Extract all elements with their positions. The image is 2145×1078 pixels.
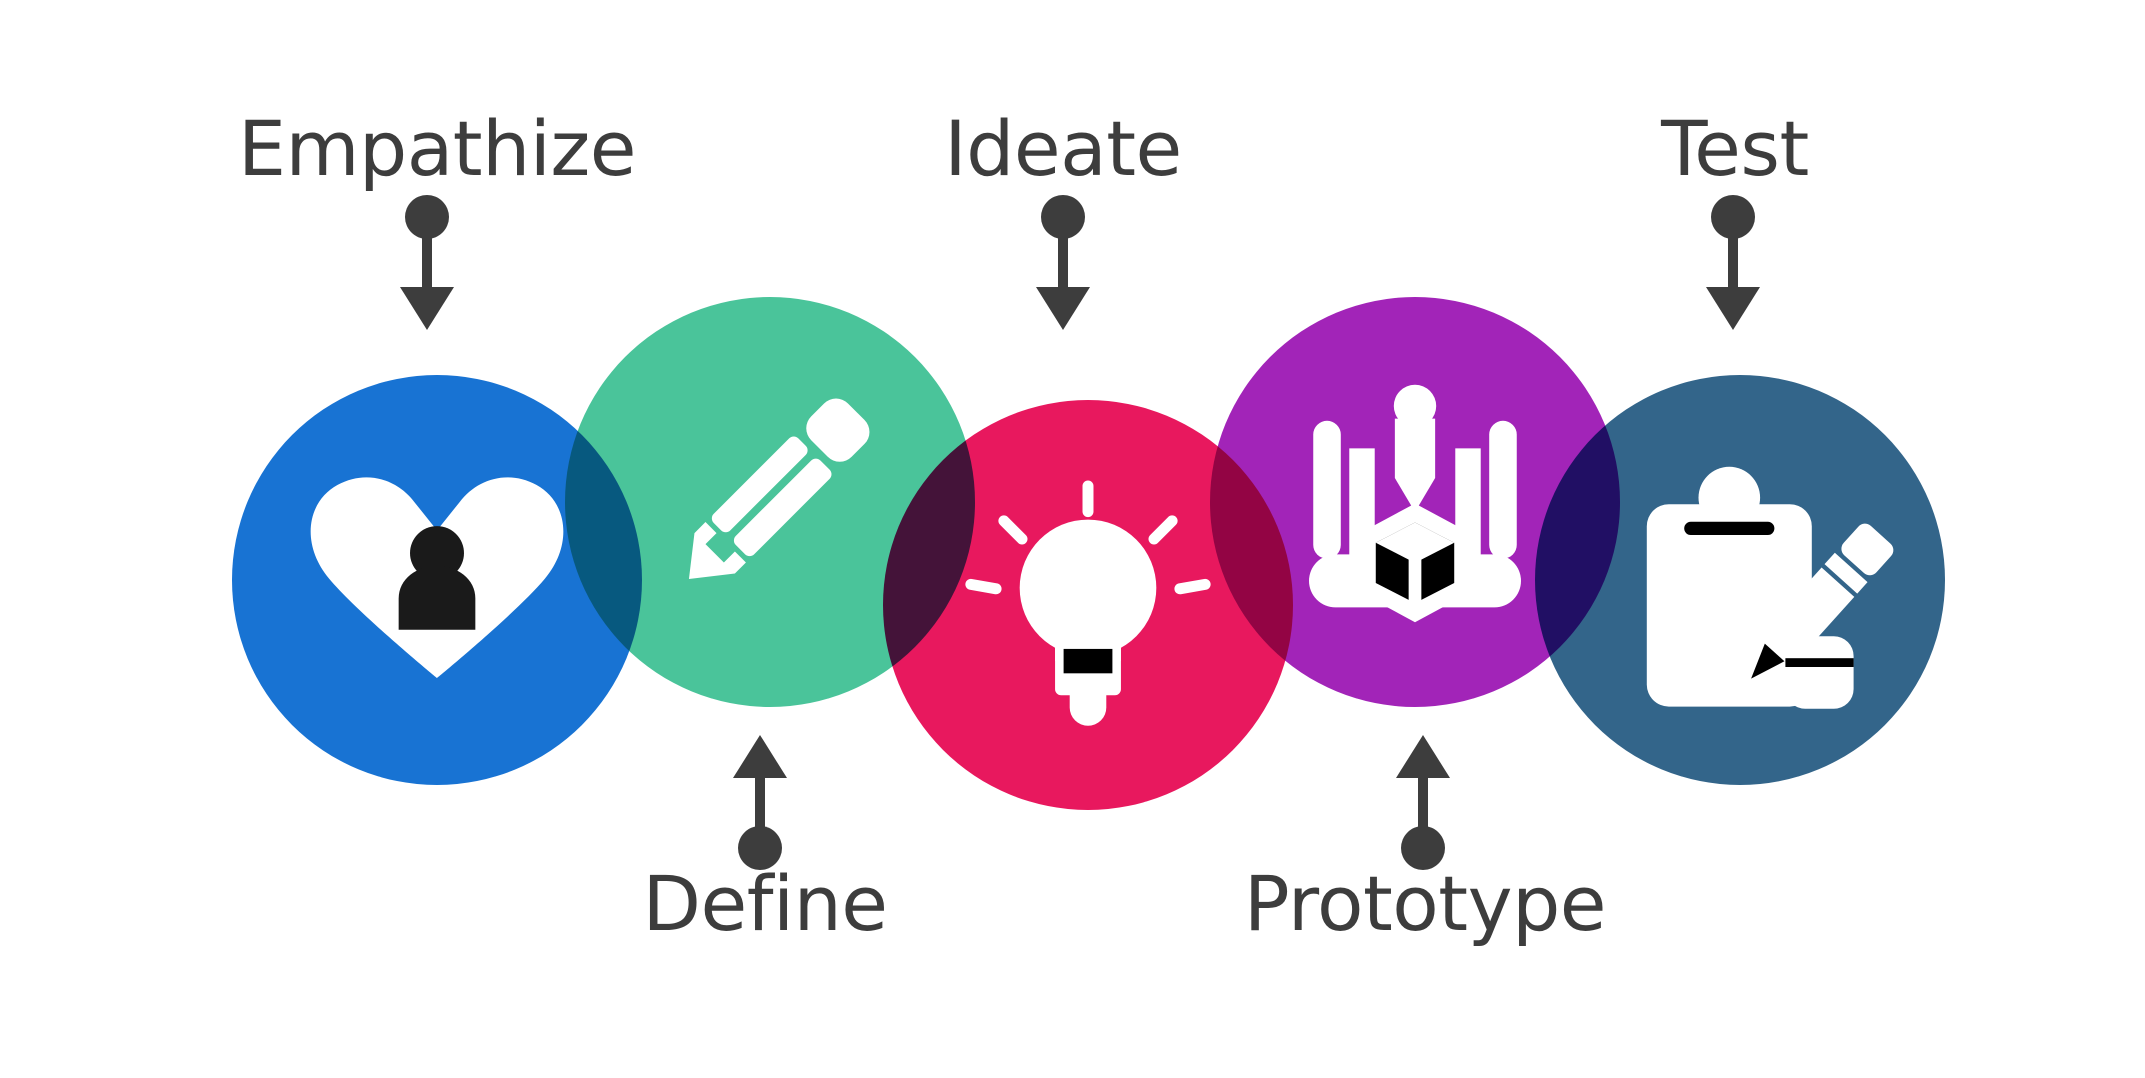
infographic-canvas: Empathize Define Ideate Prototype Test <box>0 0 2145 1078</box>
label-define: Define <box>642 859 887 948</box>
label-empathize: Empathize <box>238 104 636 193</box>
label-test: Test <box>1660 104 1809 193</box>
design-thinking-diagram: Empathize Define Ideate Prototype Test <box>0 0 2145 1078</box>
label-prototype: Prototype <box>1244 859 1606 948</box>
label-ideate: Ideate <box>944 104 1182 193</box>
